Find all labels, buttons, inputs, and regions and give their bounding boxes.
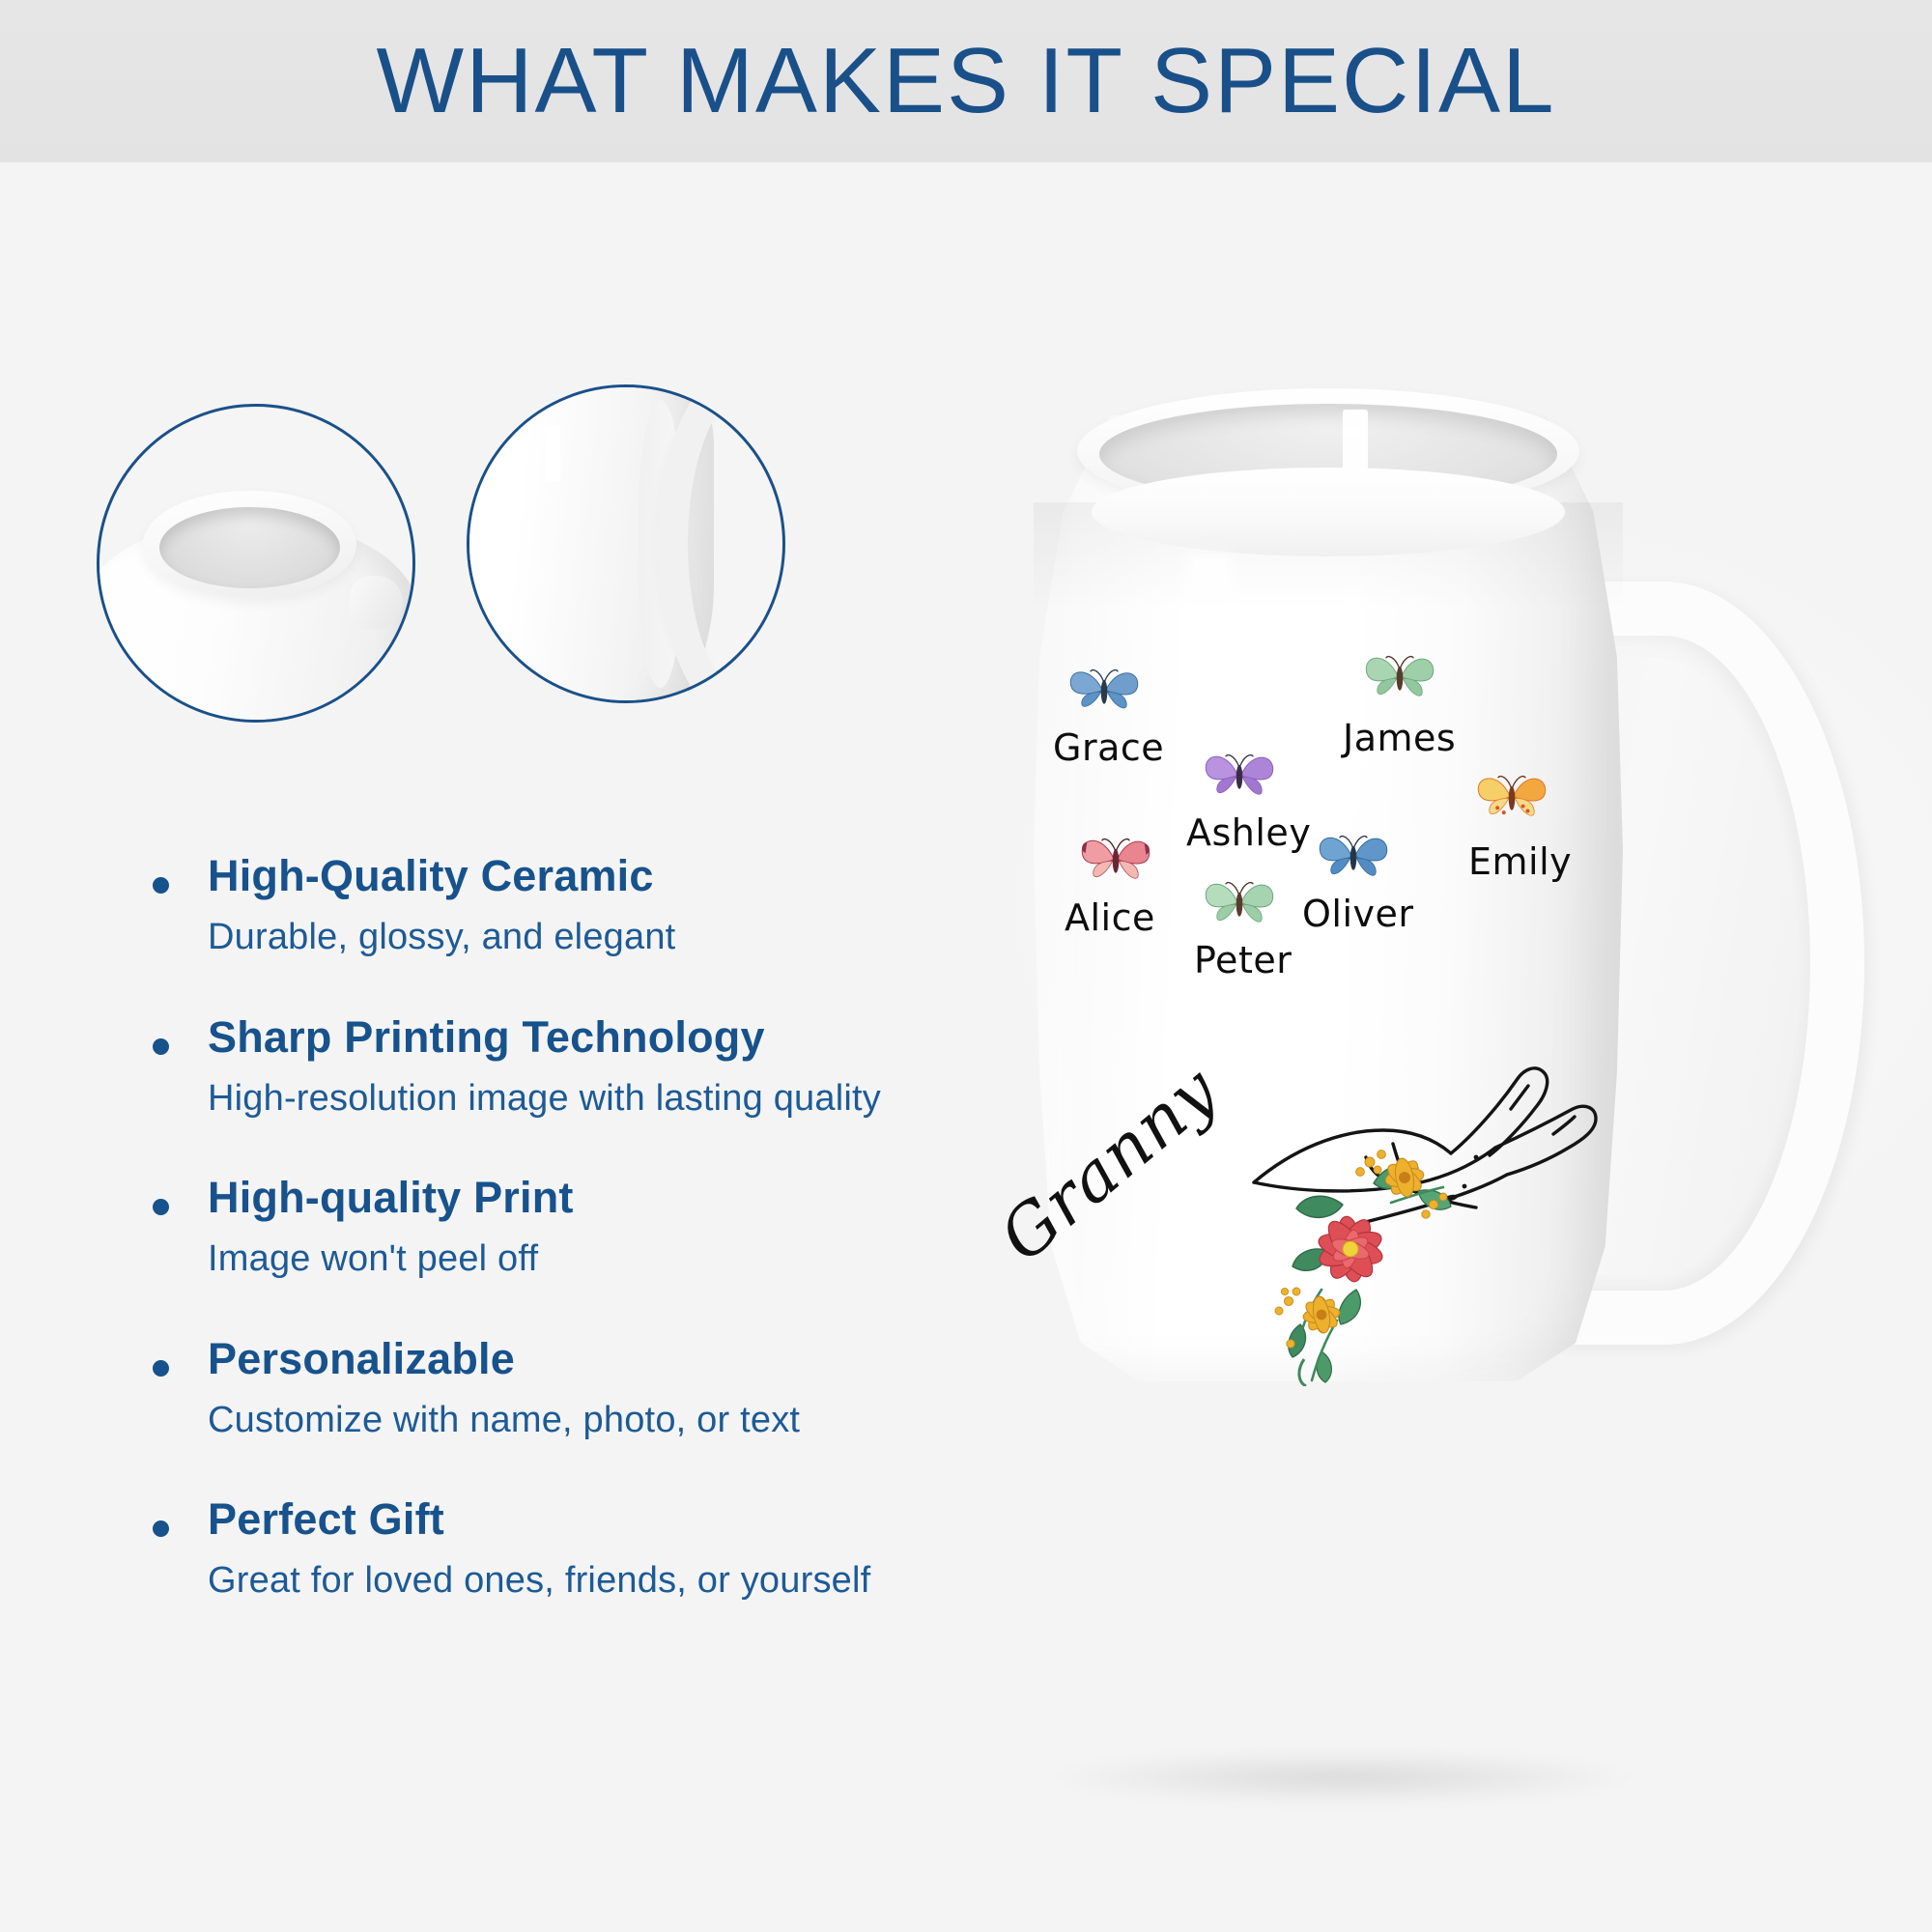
feature-subtitle: Customize with name, photo, or text: [208, 1398, 1034, 1444]
butterfly-name-peter: Peter: [1194, 939, 1292, 981]
butterfly-ashley: [1198, 742, 1281, 806]
feature-subtitle: Durable, glossy, and elegant: [208, 915, 1034, 961]
feature-title: Sharp Printing Technology: [208, 1011, 1034, 1063]
feature-subtitle: Image won't peel off: [208, 1236, 1034, 1283]
feature-list: High-Quality Ceramic Durable, glossy, an…: [145, 850, 1034, 1655]
butterfly-oliver: [1312, 823, 1395, 887]
vase-shadow: [1043, 1750, 1642, 1804]
header-band: WHAT MAKES IT SPECIAL: [0, 0, 1932, 162]
feature-item-high-quality-print: High-quality Print Image won't peel off: [145, 1172, 1034, 1283]
feature-item-sharp-printing-technology: Sharp Printing Technology High-resolutio…: [145, 1011, 1034, 1122]
butterfly-alice: [1074, 826, 1157, 890]
butterfly-name-ashley: Ashley: [1186, 811, 1311, 854]
detail-circle-vase-rim: [97, 404, 415, 723]
rim-highlight: [1343, 410, 1368, 469]
detail-circle-vase-handle: [467, 384, 785, 703]
feature-item-perfect-gift: Perfect Gift Great for loved ones, frien…: [145, 1493, 1034, 1605]
page-title: WHAT MAKES IT SPECIAL: [377, 28, 1556, 134]
feature-subtitle: High-resolution image with lasting quali…: [208, 1076, 1034, 1122]
watercolor-flowers: [1229, 1145, 1465, 1386]
butterfly-name-grace: Grace: [1053, 726, 1164, 769]
feature-item-personalizable: Personalizable Customize with name, phot…: [145, 1333, 1034, 1444]
bullet-icon: [153, 1360, 169, 1377]
feature-item-high-quality-ceramic: High-Quality Ceramic Durable, glossy, an…: [145, 850, 1034, 961]
bullet-icon: [153, 1038, 169, 1055]
butterfly-name-james: James: [1343, 717, 1456, 759]
bullet-icon: [153, 877, 169, 894]
butterfly-name-oliver: Oliver: [1302, 893, 1414, 935]
vase-handle-illustration: [469, 387, 782, 700]
butterfly-name-alice: Alice: [1065, 896, 1155, 939]
feature-title: High-Quality Ceramic: [208, 850, 1034, 901]
vase-rim-illustration: [99, 407, 412, 720]
butterfly-james: [1358, 643, 1441, 707]
butterfly-emily: [1470, 763, 1553, 827]
vase-mouth-ridge: [1092, 468, 1565, 556]
feature-title: Personalizable: [208, 1333, 1034, 1384]
butterfly-name-emily: Emily: [1468, 840, 1572, 883]
printed-design: Grace Ashley: [1053, 657, 1613, 1333]
bullet-icon: [153, 1199, 169, 1215]
bullet-icon: [153, 1520, 169, 1537]
product-vase: Grace Ashley: [1024, 415, 1932, 1826]
feature-title: Perfect Gift: [208, 1493, 1034, 1545]
butterfly-peter: [1198, 869, 1281, 933]
feature-title: High-quality Print: [208, 1172, 1034, 1223]
feature-subtitle: Great for loved ones, friends, or yourse…: [208, 1558, 1034, 1605]
butterfly-grace: [1063, 657, 1146, 721]
